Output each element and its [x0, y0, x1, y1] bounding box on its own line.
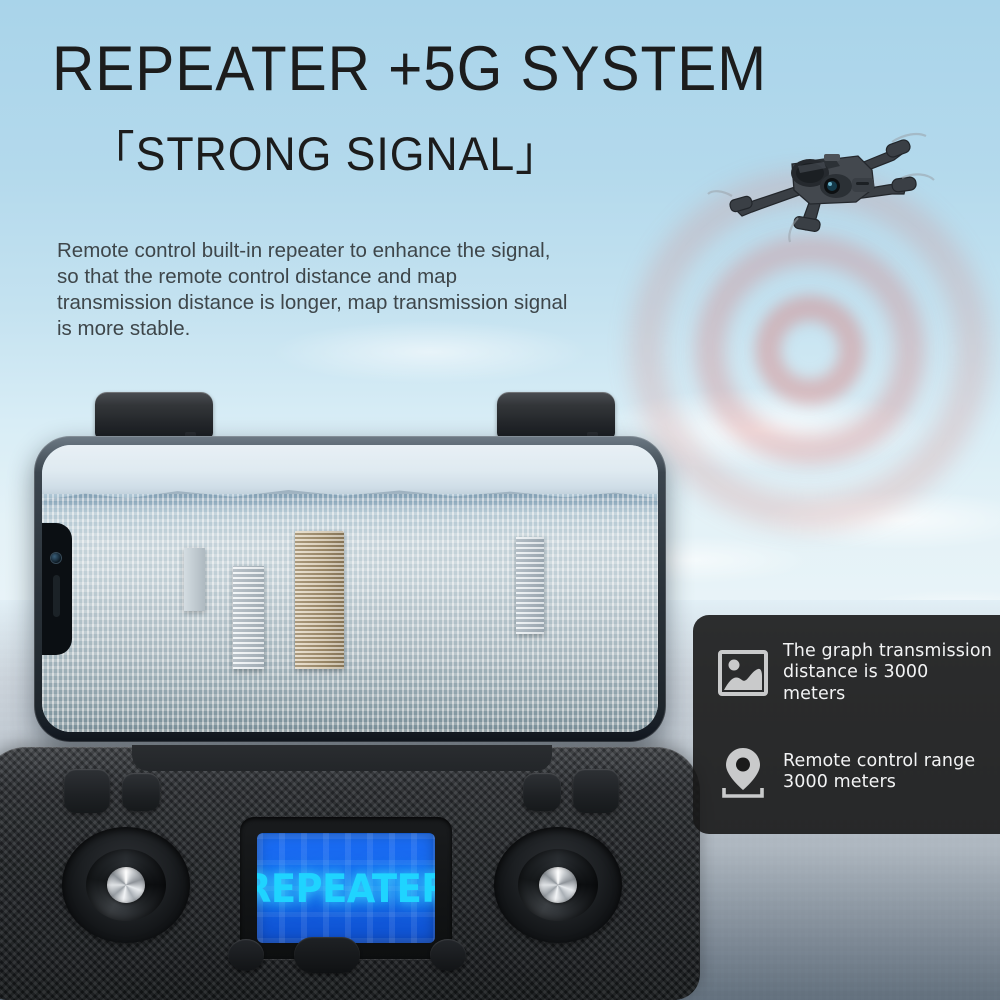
joystick-left[interactable]	[62, 827, 190, 943]
shoulder-button-r2[interactable]	[523, 773, 561, 811]
body-copy: Remote control built-in repeater to enha…	[57, 238, 577, 342]
joystick-left-cap[interactable]	[107, 867, 145, 903]
subheadline: 「STRONG SIGNAL」	[90, 130, 561, 177]
info-panel: The graph transmission distance is 3000 …	[693, 615, 1000, 834]
controller-button-left[interactable]	[228, 939, 264, 971]
image-icon	[717, 647, 769, 699]
shoulder-button-r1[interactable]	[573, 769, 619, 813]
location-pin-icon	[717, 746, 769, 798]
controller-power-button[interactable]	[294, 937, 360, 973]
earpiece-speaker	[53, 575, 60, 617]
poster-canvas: REPEATER +5G SYSTEM 「STRONG SIGNAL」 Remo…	[0, 0, 1000, 1000]
controller-body: REPEATER	[0, 747, 700, 1000]
controller-phone-slot	[132, 745, 552, 771]
building-main-tower	[295, 531, 344, 669]
building-secondary	[233, 566, 264, 669]
city-texture	[42, 494, 658, 732]
info-item-label: The graph transmission distance is 3000 …	[783, 641, 995, 705]
info-item-control-range: Remote control range 3000 meters	[717, 746, 995, 798]
smartphone	[34, 436, 666, 742]
shoulder-button-l2[interactable]	[122, 773, 160, 811]
joystick-right-ring	[518, 849, 598, 921]
phone-screen[interactable]	[42, 445, 658, 732]
joystick-left-ring	[86, 849, 166, 921]
phone-notch	[42, 523, 72, 655]
antenna-right	[497, 392, 615, 438]
building-quaternary	[184, 548, 205, 611]
info-item-graph-transmission: The graph transmission distance is 3000 …	[717, 641, 995, 705]
headline: REPEATER +5G SYSTEM	[52, 38, 767, 101]
remote-controller-rig: REPEATER	[0, 392, 700, 1000]
shoulder-button-l1[interactable]	[64, 769, 110, 813]
joystick-right[interactable]	[494, 827, 622, 943]
antenna-left	[95, 392, 213, 438]
joystick-right-cap[interactable]	[539, 867, 577, 903]
controller-button-right[interactable]	[430, 939, 466, 971]
lcd-label: REPEATER	[257, 865, 435, 911]
building-tertiary	[516, 537, 544, 635]
drone-icon	[706, 126, 936, 246]
info-item-label: Remote control range 3000 meters	[783, 751, 995, 794]
lcd-screen[interactable]: REPEATER	[257, 833, 435, 943]
front-camera-icon	[51, 553, 61, 563]
